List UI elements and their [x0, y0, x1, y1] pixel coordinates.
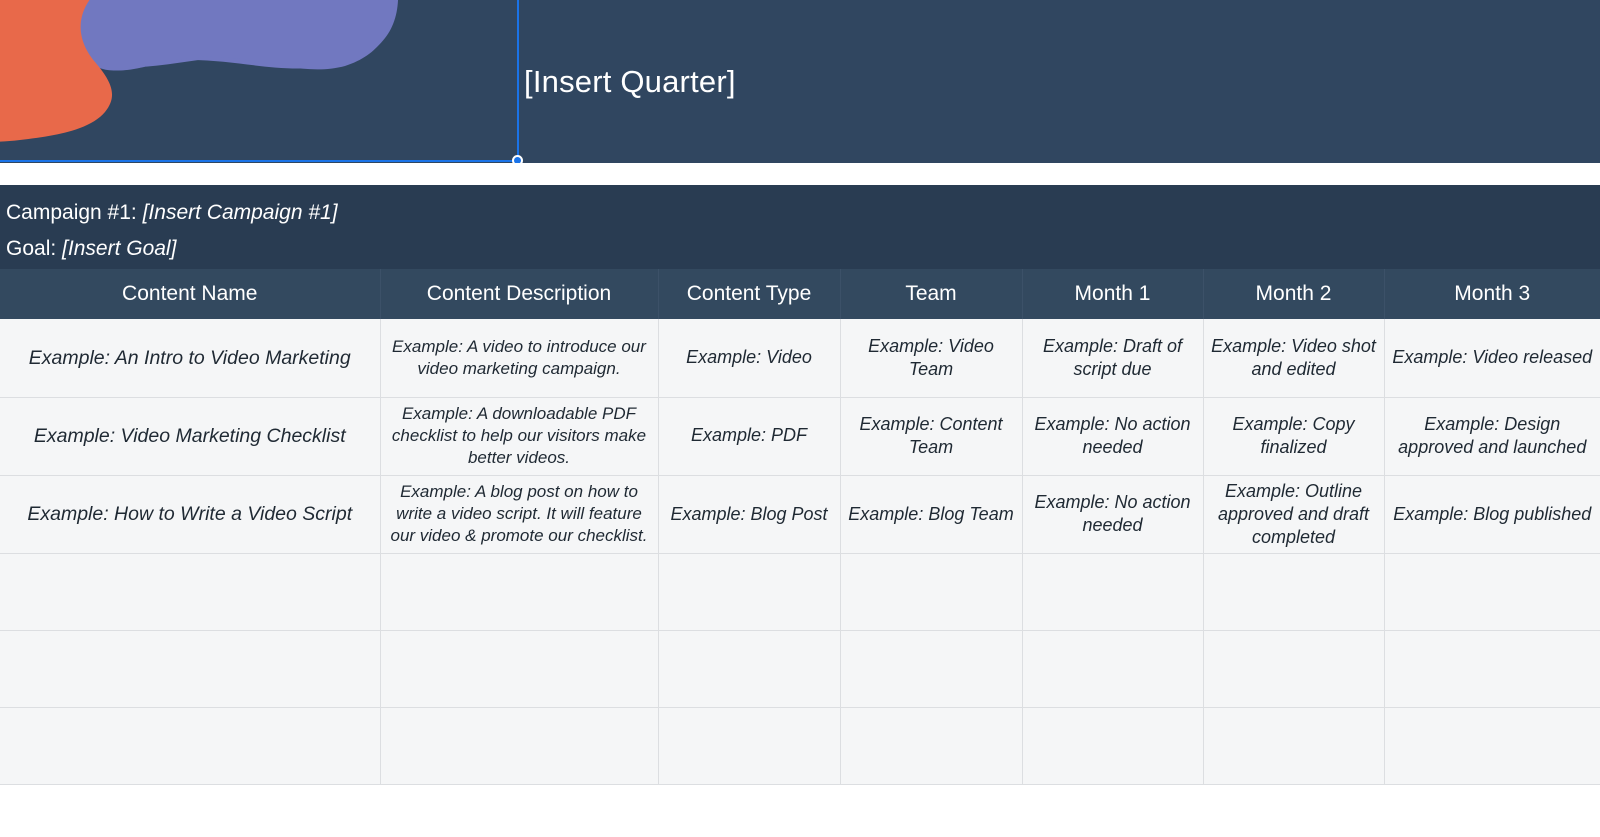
page-title: [Insert Quarter]	[524, 0, 736, 163]
header-banner: [Insert Quarter]	[0, 0, 1600, 163]
bottom-whitespace	[0, 799, 1600, 837]
cell-content-name[interactable]: Example: An Intro to Video Marketing	[0, 319, 380, 397]
cell-content-type[interactable]	[658, 630, 840, 707]
cell-content-type[interactable]: Example: PDF	[658, 397, 840, 475]
cell-month-1[interactable]: Example: Draft of script due	[1022, 319, 1203, 397]
column-header-team[interactable]: Team	[840, 269, 1022, 319]
banner-gap-spacer	[0, 163, 1600, 185]
campaign-label: Campaign #1:	[6, 201, 137, 224]
cell-content-type[interactable]	[658, 707, 840, 784]
goal-value[interactable]: [Insert Goal]	[62, 237, 176, 260]
cell-month-1[interactable]: Example: No action needed	[1022, 475, 1203, 553]
column-header-content-type[interactable]: Content Type	[658, 269, 840, 319]
cell-month-2[interactable]: Example: Copy finalized	[1203, 397, 1384, 475]
table-row	[0, 630, 1600, 707]
column-header-month-3[interactable]: Month 3	[1384, 269, 1600, 319]
cell-month-1[interactable]	[1022, 553, 1203, 630]
campaign-line: Campaign #1: [Insert Campaign #1]	[6, 195, 1600, 231]
table-row: Example: Video Marketing Checklist Examp…	[0, 397, 1600, 475]
column-header-content-name[interactable]: Content Name	[0, 269, 380, 319]
cell-content-description[interactable]	[380, 553, 658, 630]
cell-month-3[interactable]	[1384, 707, 1600, 784]
goal-label: Goal:	[6, 237, 56, 260]
table-row: Example: How to Write a Video Script Exa…	[0, 475, 1600, 553]
table-row	[0, 707, 1600, 784]
cell-month-2[interactable]	[1203, 707, 1384, 784]
goal-line: Goal: [Insert Goal]	[6, 231, 1600, 267]
campaign-header-band: Campaign #1: [Insert Campaign #1] Goal: …	[0, 185, 1600, 269]
table-body: Example: An Intro to Video Marketing Exa…	[0, 319, 1600, 784]
cell-content-description[interactable]: Example: A downloadable PDF checklist to…	[380, 397, 658, 475]
cell-content-name[interactable]	[0, 707, 380, 784]
decorative-blobs-graphic	[0, 0, 520, 163]
cell-content-type[interactable]	[658, 553, 840, 630]
cell-month-2[interactable]	[1203, 553, 1384, 630]
campaign-value[interactable]: [Insert Campaign #1]	[143, 201, 338, 224]
cell-content-name[interactable]: Example: Video Marketing Checklist	[0, 397, 380, 475]
cell-month-1[interactable]	[1022, 630, 1203, 707]
cell-content-name[interactable]	[0, 553, 380, 630]
table-header: Content Name Content Description Content…	[0, 269, 1600, 319]
cell-content-type[interactable]: Example: Video	[658, 319, 840, 397]
table-row	[0, 553, 1600, 630]
cell-content-description[interactable]	[380, 707, 658, 784]
cell-content-description[interactable]	[380, 630, 658, 707]
column-header-content-description[interactable]: Content Description	[380, 269, 658, 319]
cell-team[interactable]	[840, 630, 1022, 707]
cell-month-3[interactable]	[1384, 630, 1600, 707]
cell-month-3[interactable]	[1384, 553, 1600, 630]
cell-content-type[interactable]: Example: Blog Post	[658, 475, 840, 553]
column-header-month-2[interactable]: Month 2	[1203, 269, 1384, 319]
cell-team[interactable]	[840, 707, 1022, 784]
cell-team[interactable]: Example: Blog Team	[840, 475, 1022, 553]
cell-team[interactable]: Example: Content Team	[840, 397, 1022, 475]
table-row: Example: An Intro to Video Marketing Exa…	[0, 319, 1600, 397]
column-header-month-1[interactable]: Month 1	[1022, 269, 1203, 319]
cell-content-name[interactable]	[0, 630, 380, 707]
cell-month-3[interactable]: Example: Video released	[1384, 319, 1600, 397]
cell-month-3[interactable]: Example: Design approved and launched	[1384, 397, 1600, 475]
cell-month-2[interactable]: Example: Outline approved and draft comp…	[1203, 475, 1384, 553]
cell-content-description[interactable]: Example: A video to introduce our video …	[380, 319, 658, 397]
cell-team[interactable]	[840, 553, 1022, 630]
table-header-row: Content Name Content Description Content…	[0, 269, 1600, 319]
cell-month-3[interactable]: Example: Blog published	[1384, 475, 1600, 553]
cell-content-name[interactable]: Example: How to Write a Video Script	[0, 475, 380, 553]
cell-month-1[interactable]: Example: No action needed	[1022, 397, 1203, 475]
cell-team[interactable]: Example: Video Team	[840, 319, 1022, 397]
cell-month-2[interactable]	[1203, 630, 1384, 707]
cell-content-description[interactable]: Example: A blog post on how to write a v…	[380, 475, 658, 553]
cell-month-2[interactable]: Example: Video shot and edited	[1203, 319, 1384, 397]
content-calendar-table: Content Name Content Description Content…	[0, 269, 1600, 785]
cell-month-1[interactable]	[1022, 707, 1203, 784]
